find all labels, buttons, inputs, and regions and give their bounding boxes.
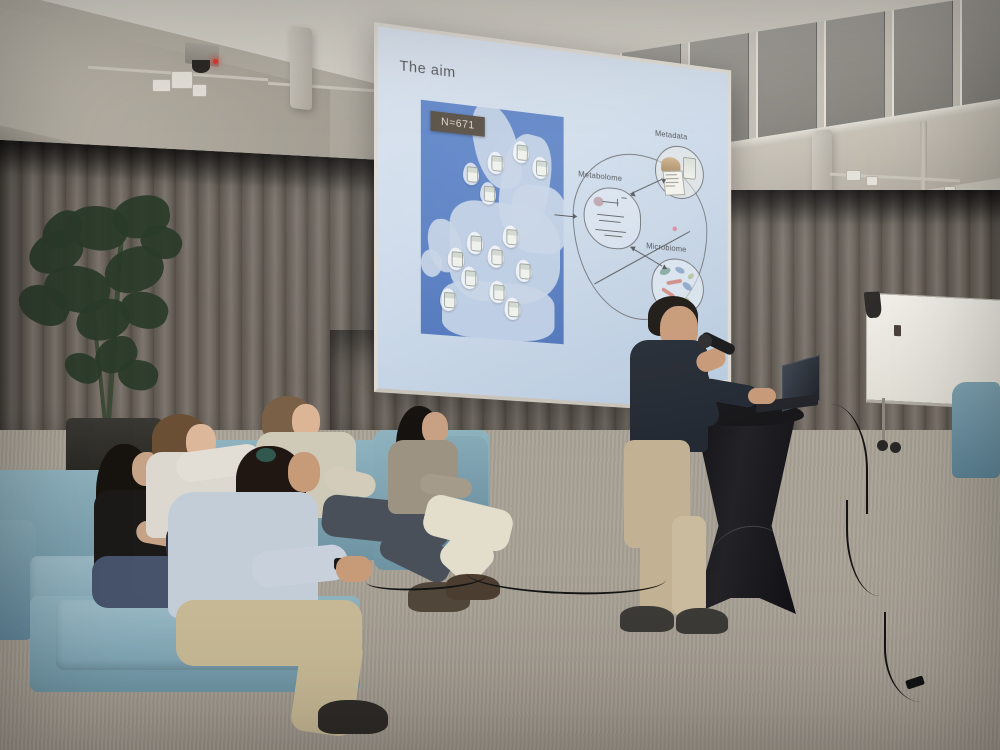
- presentation-room-photo: The aim: [0, 0, 1000, 750]
- wall-outlet-plate[interactable]: [846, 170, 861, 181]
- camera-dome-icon: [192, 60, 210, 73]
- accent-dot: [673, 226, 677, 231]
- wall-outlet-plate[interactable]: [152, 79, 171, 92]
- node-label-metadata: Metadata: [655, 128, 687, 141]
- microphone-head-icon: [698, 334, 712, 348]
- wall-speaker-left: [290, 26, 312, 111]
- europe-sample-map: N=671: [421, 100, 564, 345]
- slide-title: The aim: [399, 57, 455, 81]
- wall-outlet-plate[interactable]: [171, 71, 193, 89]
- hair-tie: [256, 448, 276, 462]
- whiteboard-cloth: [864, 291, 883, 318]
- wall-outlet-plate[interactable]: [866, 176, 878, 186]
- omics-flow-diagram: Metabolome Metadata: [567, 112, 726, 364]
- blue-armchair[interactable]: [952, 382, 1000, 478]
- whiteboard-eraser[interactable]: [894, 325, 901, 336]
- camera-led-indicator: [213, 59, 218, 64]
- wall-outlet-plate[interactable]: [192, 84, 207, 97]
